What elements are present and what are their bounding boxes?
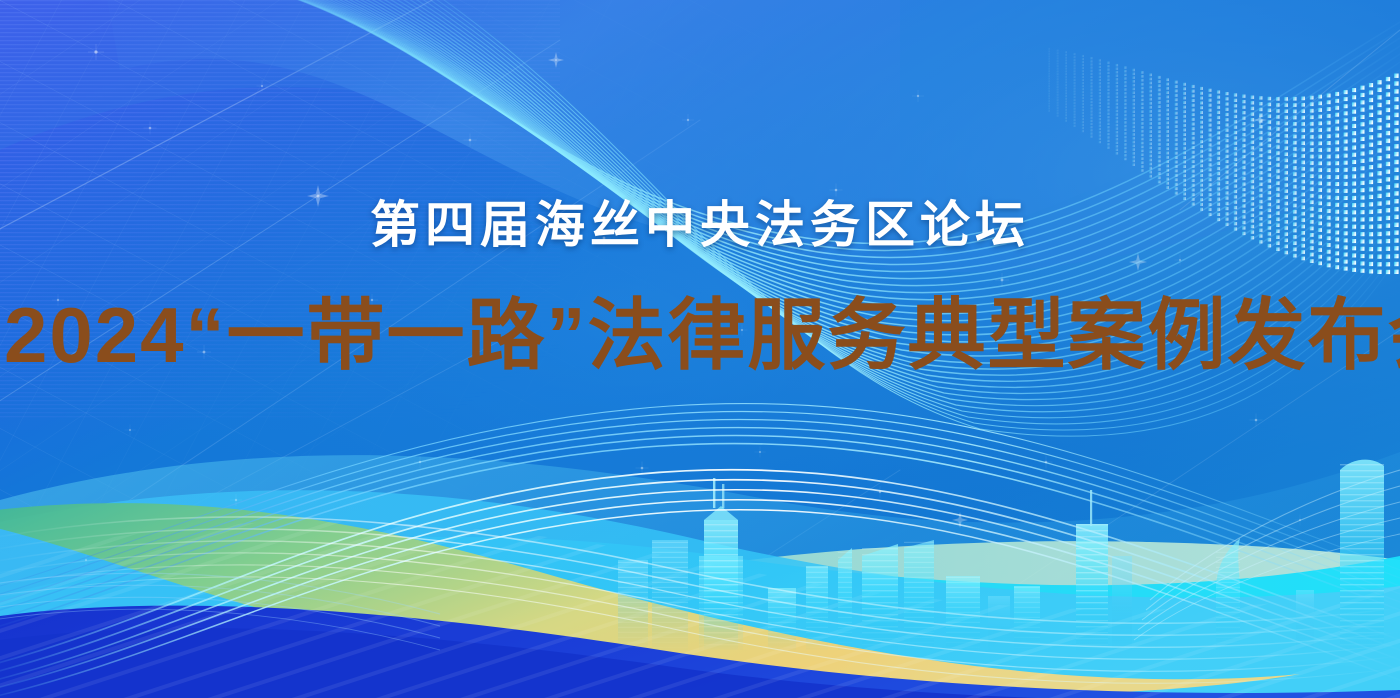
star-sparkle-points: [0, 0, 1400, 698]
poster-canvas: 第四届海丝中央法务区论坛 2024“一带一路”法律服务典型案例发布会 2024“…: [0, 0, 1400, 698]
